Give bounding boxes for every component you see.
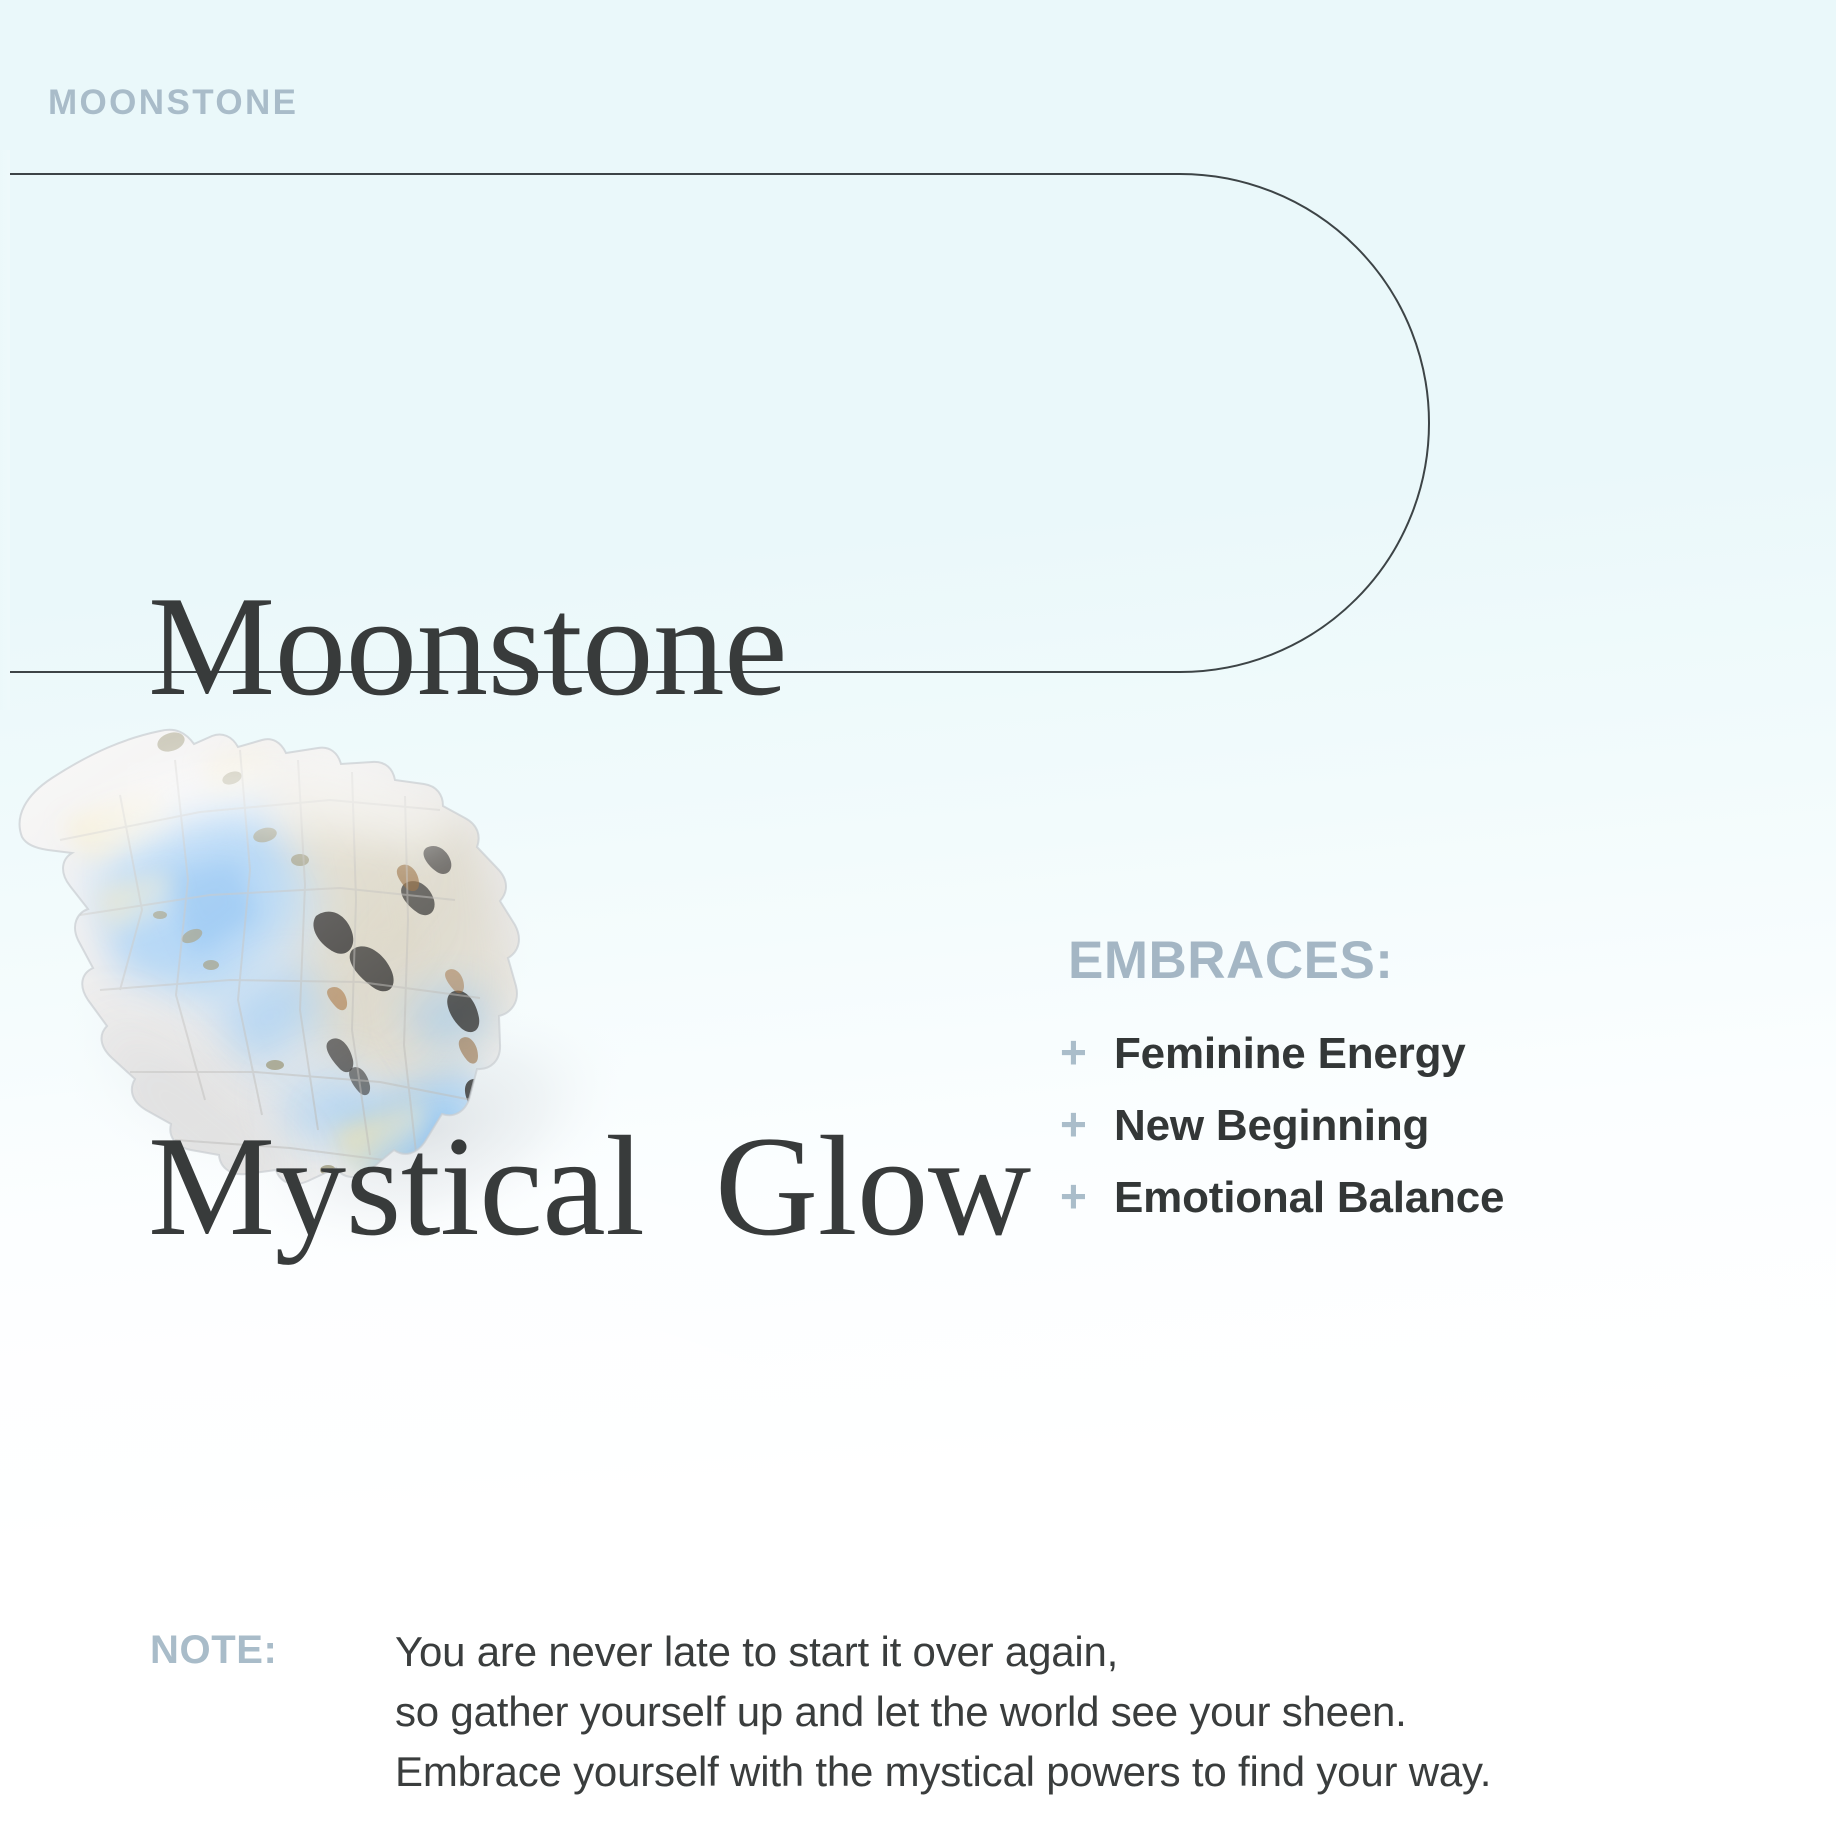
page-title-line-1: Moonstone xyxy=(148,556,1031,736)
plus-icon: + xyxy=(1060,1101,1114,1147)
page-eyebrow-label: MOONSTONE xyxy=(48,83,298,123)
list-item-label: New Beginning xyxy=(1114,1101,1429,1151)
list-item: + New Beginning xyxy=(1060,1101,1504,1151)
note-text: You are never late to start it over agai… xyxy=(395,1622,1491,1802)
plus-icon: + xyxy=(1060,1029,1114,1075)
embraces-section: EMBRACES: + Feminine Energy + New Beginn… xyxy=(1060,930,1504,1245)
plus-icon: + xyxy=(1060,1173,1114,1219)
embraces-heading: EMBRACES: xyxy=(1068,930,1504,991)
page-title-line-2: Mystical Glow xyxy=(148,1096,1031,1276)
embraces-benefit-list: + Feminine Energy + New Beginning + Emot… xyxy=(1060,1029,1504,1223)
note-section: NOTE: You are never late to start it ove… xyxy=(150,1622,1491,1802)
poster-canvas: MOONSTONE Moonstone Mystical Glow xyxy=(0,0,1836,1836)
page-title: Moonstone Mystical Glow xyxy=(148,196,1031,1636)
hero-pill-left-mask xyxy=(0,150,10,710)
list-item: + Feminine Energy xyxy=(1060,1029,1504,1079)
list-item-label: Feminine Energy xyxy=(1114,1029,1466,1079)
list-item-label: Emotional Balance xyxy=(1114,1173,1504,1223)
list-item: + Emotional Balance xyxy=(1060,1173,1504,1223)
